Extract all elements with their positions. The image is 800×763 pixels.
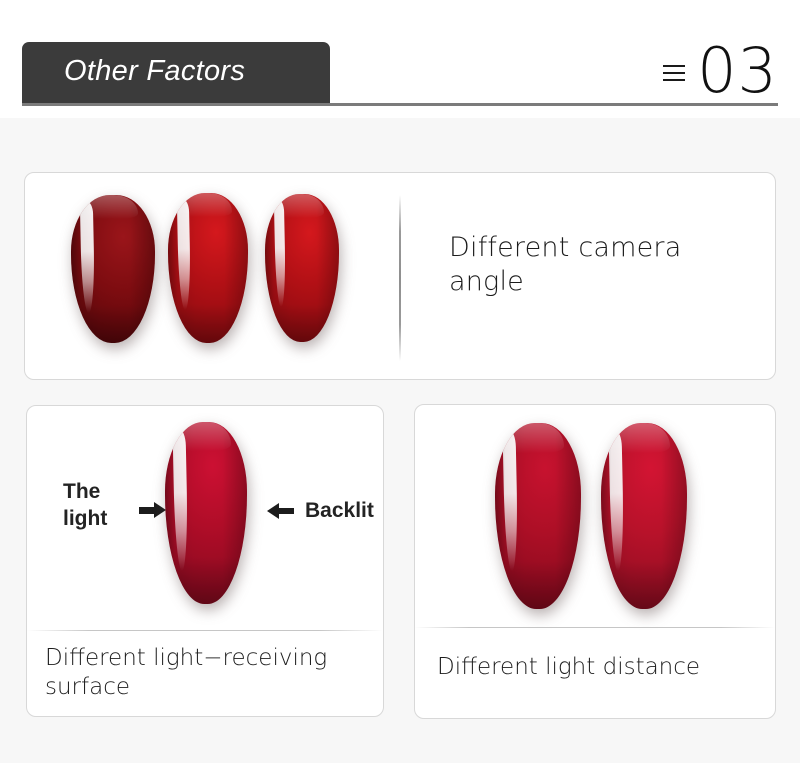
slide-page: Other Factors 03 bbox=[0, 0, 800, 763]
hamburger-icon bbox=[663, 65, 685, 83]
nail-swatch-red bbox=[168, 193, 248, 343]
card-camera-angle[interactable]: Different camera angle bbox=[24, 172, 776, 380]
page-title: Other Factors bbox=[64, 55, 245, 88]
illustration-light-direction: The light Backlit bbox=[27, 406, 383, 638]
section-title-pill: Other Factors bbox=[22, 42, 330, 104]
nail-swatch-crimson bbox=[601, 423, 687, 609]
label-the-light: The light bbox=[63, 478, 129, 532]
section-number: 03 bbox=[697, 40, 778, 102]
nail-swatch-group bbox=[415, 405, 775, 629]
nail-swatch-crimson bbox=[495, 423, 581, 609]
header-divider-rule bbox=[22, 103, 778, 106]
card-caption-light-receiving-surface: Different light−receiving surface bbox=[45, 644, 375, 702]
nail-swatch-dark bbox=[71, 195, 155, 343]
label-backlit: Backlit bbox=[305, 499, 374, 523]
card-horizontal-separator bbox=[27, 630, 383, 631]
card-vertical-divider bbox=[399, 195, 401, 361]
card-caption-light-distance: Different light distance bbox=[437, 653, 767, 682]
page-header: Other Factors 03 bbox=[0, 0, 800, 118]
card-caption-camera-angle: Different camera angle bbox=[449, 231, 749, 299]
nail-swatch-red bbox=[265, 194, 339, 342]
card-horizontal-separator bbox=[415, 627, 775, 628]
header-right-group: 03 bbox=[663, 40, 778, 102]
card-light-distance[interactable]: Different light distance bbox=[414, 404, 776, 719]
card-light-receiving-surface[interactable]: The light Backlit Different light−receiv… bbox=[26, 405, 384, 717]
nail-swatch-crimson bbox=[165, 422, 247, 604]
